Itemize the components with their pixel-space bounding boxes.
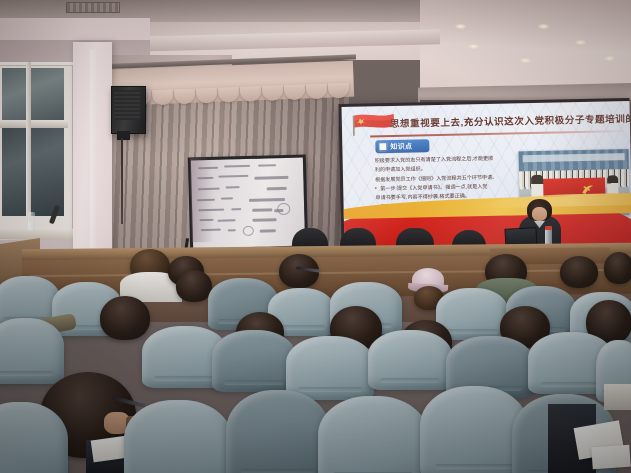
ceiling-vent-icon [66, 2, 120, 13]
water-bottle-on-sill [28, 212, 35, 230]
window-mullion-vertical [26, 62, 31, 222]
book-icon [378, 142, 387, 151]
loudspeaker-cable [121, 138, 123, 224]
audience-head [560, 256, 598, 288]
presenter-face [532, 207, 547, 221]
valance-scallop [218, 87, 240, 103]
downlight-icon [538, 24, 549, 29]
audience-sleeve [604, 384, 631, 410]
valance-scallop [262, 85, 284, 101]
downlight-icon [575, 40, 586, 45]
window-pane-upper [2, 68, 64, 122]
downlight-icon [604, 56, 615, 61]
seat[interactable] [212, 330, 296, 392]
downlight-icon [455, 24, 466, 29]
valance-scallop [174, 89, 196, 105]
loudspeaker-bracket [117, 131, 130, 140]
projection-screen[interactable]: 思想重视要上去,充分认识这次入党积极分子专题培训的重 知识点 积极要求入党的志只… [342, 101, 631, 250]
seat[interactable] [226, 390, 330, 473]
seat[interactable] [368, 330, 452, 390]
whiteboard-handwriting [188, 155, 302, 246]
valance-scallop [328, 83, 350, 99]
bottle-cap [545, 226, 552, 230]
valance-scallop [284, 84, 306, 100]
valance-scallop [152, 89, 174, 105]
seat[interactable] [286, 336, 374, 400]
knowledge-point-badge: 知识点 [375, 139, 429, 153]
badge-label: 知识点 [390, 141, 412, 151]
audience-head [100, 296, 150, 340]
downlight-icon [520, 58, 531, 63]
valance-scallop [196, 88, 218, 104]
lecture-hall-photo: 思想重视要上去,充分认识这次入党积极分子专题培训的重 知识点 积极要求入党的志只… [0, 0, 631, 473]
valance-scallop [306, 84, 328, 100]
loudspeaker-grille [114, 90, 140, 120]
seat[interactable] [0, 318, 64, 384]
seat[interactable] [318, 396, 428, 473]
valance-scallop [240, 86, 262, 102]
seat[interactable] [124, 400, 232, 473]
notebook-page [591, 445, 630, 470]
downlight-icon [468, 44, 479, 49]
window-pane-lower [2, 128, 64, 216]
window-mullion-horizontal [0, 120, 68, 128]
audience-head [176, 270, 212, 302]
audience-head [604, 252, 631, 284]
